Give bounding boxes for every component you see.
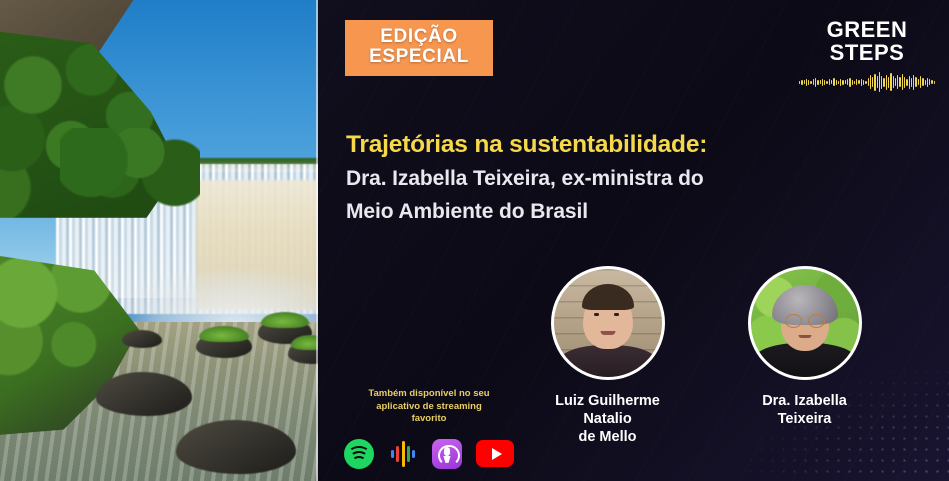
brand-line-2: STEPS bbox=[799, 41, 935, 64]
speaker-name-line-2: Teixeira bbox=[727, 410, 882, 428]
content-panel: EDIÇÃO ESPECIAL GREEN STEPS Trajetórias … bbox=[318, 0, 949, 481]
episode-title: Trajetórias na sustentabilidade: Dra. Iz… bbox=[346, 128, 906, 228]
speaker-izabella-teixeira: Dra. Izabella Teixeira bbox=[727, 266, 882, 446]
forest-canopy-lower bbox=[60, 128, 200, 208]
mossy-rock bbox=[288, 340, 318, 364]
speakers-row: Luiz Guilherme Natalio de Mello Dra. Iza… bbox=[530, 266, 930, 446]
apple-podcasts-icon[interactable] bbox=[432, 439, 462, 469]
streaming-text-line-1: Também disponível no seu bbox=[340, 388, 518, 401]
special-edition-badge: EDIÇÃO ESPECIAL bbox=[345, 20, 493, 76]
brand-logo: GREEN STEPS bbox=[799, 18, 935, 93]
speaker-name-line-1: Luiz Guilherme Natalio bbox=[530, 392, 685, 428]
title-line-2: Dra. Izabella Teixeira, ex-ministra do bbox=[346, 162, 906, 195]
youtube-icon[interactable] bbox=[476, 440, 514, 467]
speaker-luiz-guilherme: Luiz Guilherme Natalio de Mello bbox=[530, 266, 685, 446]
brand-line-1: GREEN bbox=[799, 18, 935, 41]
streaming-availability: Também disponível no seu aplicativo de s… bbox=[340, 388, 518, 469]
speaker-name-line-1: Dra. Izabella bbox=[727, 392, 882, 410]
google-podcasts-icon[interactable] bbox=[388, 439, 418, 469]
river-rock bbox=[122, 330, 162, 348]
streaming-text-line-2: aplicativo de streaming bbox=[340, 401, 518, 414]
streaming-text-line-3: favorito bbox=[340, 413, 518, 426]
speaker-name: Luiz Guilherme Natalio de Mello bbox=[530, 392, 685, 446]
speaker-name-line-2: de Mello bbox=[530, 428, 685, 446]
streaming-text: Também disponível no seu aplicativo de s… bbox=[340, 388, 518, 426]
title-highlight: Trajetórias na sustentabilidade: bbox=[346, 128, 906, 162]
waterfall-photo bbox=[0, 0, 318, 481]
river-rock bbox=[96, 372, 192, 416]
badge-line-1: EDIÇÃO bbox=[345, 27, 493, 47]
speaker-name: Dra. Izabella Teixeira bbox=[727, 392, 882, 428]
spotify-icon[interactable] bbox=[344, 439, 374, 469]
badge-line-2: ESPECIAL bbox=[345, 47, 493, 67]
title-line-3: Meio Ambiente do Brasil bbox=[346, 195, 906, 228]
avatar-luiz-guilherme bbox=[551, 266, 665, 380]
audio-waveform-icon bbox=[799, 71, 935, 93]
avatar-izabella-teixeira bbox=[748, 266, 862, 380]
podcast-promo-poster: EDIÇÃO ESPECIAL GREEN STEPS Trajetórias … bbox=[0, 0, 949, 481]
mossy-rock bbox=[196, 332, 252, 358]
streaming-platform-icons bbox=[340, 439, 518, 469]
